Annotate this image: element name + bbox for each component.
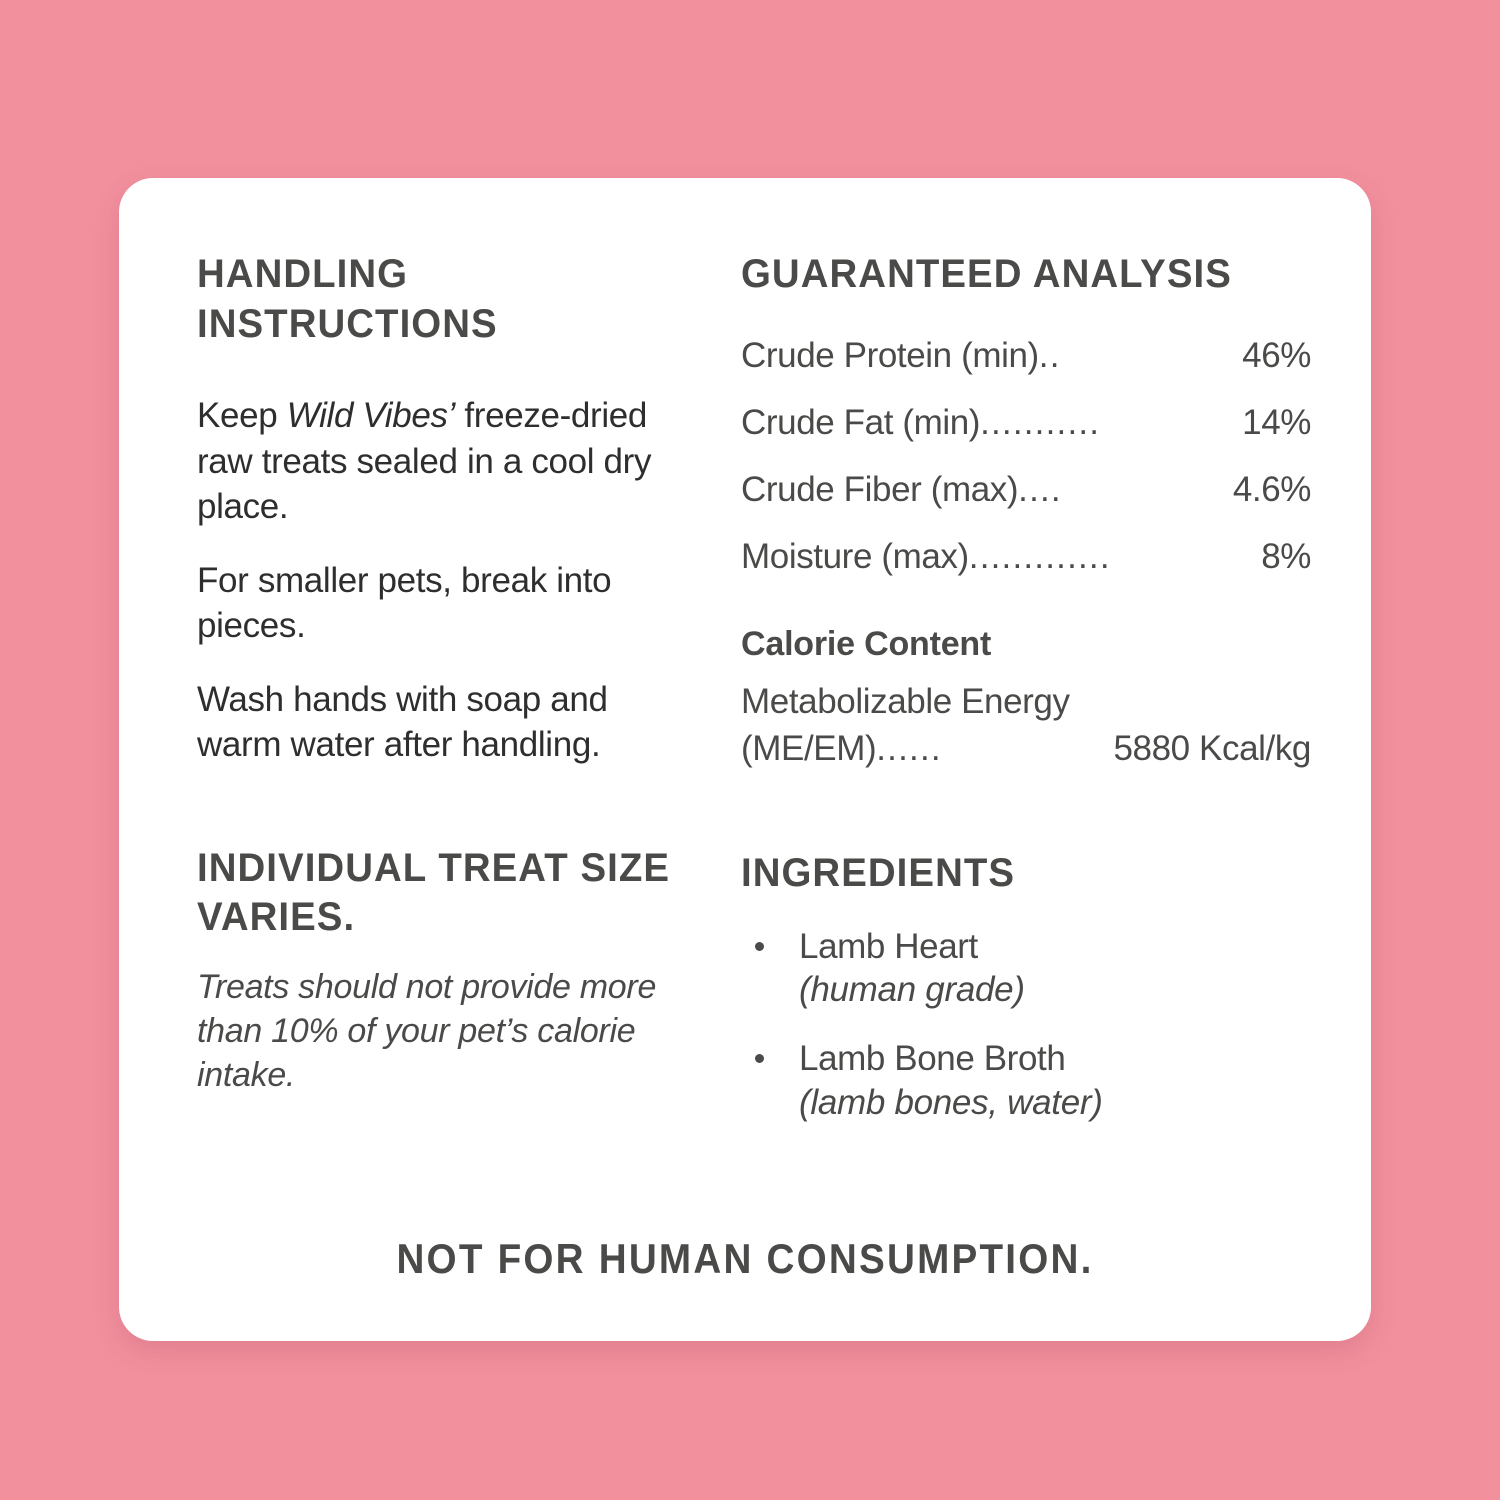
table-row: Crude Fat (min) ........... 14% [741, 389, 1311, 456]
nutrient-value: 46% [1237, 322, 1311, 389]
ingredient-name: Lamb Heart [799, 927, 978, 966]
not-for-human-consumption-warning: NOT FOR HUMAN CONSUMPTION. [169, 1235, 1321, 1283]
spacer [741, 773, 1311, 849]
spacer [197, 768, 697, 844]
metabolizable-energy-line: Metabolizable Energy [741, 679, 1311, 725]
spacer [197, 349, 697, 393]
label-canvas: HANDLING INSTRUCTIONS Keep Wild Vibes’ f… [0, 0, 1500, 1500]
ingredient-detail: (human grade) [799, 968, 1311, 1011]
product-label-card: HANDLING INSTRUCTIONS Keep Wild Vibes’ f… [119, 178, 1371, 1341]
spacer [741, 590, 1311, 624]
handling-paragraph-1: Keep Wild Vibes’ freeze-dried raw treats… [197, 393, 697, 530]
dot-leader: ............. [969, 523, 1254, 590]
right-column: GUARANTEED ANALYSIS Crude Protein (min) … [741, 250, 1311, 1124]
nutrient-label: Crude Protein (min) [741, 322, 1039, 389]
label-columns: HANDLING INSTRUCTIONS Keep Wild Vibes’ f… [119, 178, 1371, 1341]
treat-size-note: Treats should not provide more than 10% … [197, 965, 697, 1098]
calorie-content-heading: Calorie Content [741, 624, 1311, 665]
list-item: Lamb Heart (human grade) [741, 925, 1311, 1012]
spacer [741, 300, 1311, 322]
handling-instructions-heading: HANDLING INSTRUCTIONS [197, 250, 677, 349]
nutrient-value: 4.6% [1228, 456, 1311, 523]
ingredients-heading: INGREDIENTS [741, 849, 1288, 899]
left-column: HANDLING INSTRUCTIONS Keep Wild Vibes’ f… [197, 250, 697, 1097]
handling-paragraph-3: Wash hands with soap and warm water afte… [197, 677, 697, 768]
guaranteed-analysis-list: Crude Protein (min) .. 46% Crude Fat (mi… [741, 322, 1311, 591]
spacer [741, 665, 1311, 679]
dot-leader: .. [1039, 322, 1235, 389]
nutrient-value: 8% [1256, 523, 1311, 590]
dot-leader: ...... [876, 725, 1106, 773]
bullet-icon [755, 1054, 764, 1063]
me-value: 5880 Kcal/kg [1108, 725, 1311, 773]
metabolizable-energy-value-row: (ME/EM) ...... 5880 Kcal/kg [741, 725, 1311, 773]
nutrient-label: Crude Fat (min) [741, 389, 980, 456]
nutrient-label: Crude Fiber (max) [741, 456, 1018, 523]
list-item: Lamb Bone Broth (lamb bones, water) [741, 1037, 1311, 1124]
ingredient-detail: (lamb bones, water) [799, 1081, 1311, 1124]
brand-name-emphasis: Wild Vibes’ [287, 396, 455, 435]
spacer [197, 943, 697, 965]
table-row: Crude Fiber (max) .... 4.6% [741, 456, 1311, 523]
table-row: Moisture (max) ............. 8% [741, 523, 1311, 590]
bullet-icon [755, 942, 764, 951]
handling-paragraph-1-before: Keep [197, 396, 287, 435]
nutrient-value: 14% [1237, 389, 1311, 456]
guaranteed-analysis-heading: GUARANTEED ANALYSIS [741, 250, 1288, 300]
table-row: Crude Protein (min) .. 46% [741, 322, 1311, 389]
me-label: (ME/EM) [741, 725, 876, 773]
treat-size-heading: INDIVIDUAL TREAT SIZE VARIES. [197, 844, 677, 943]
handling-paragraph-2: For smaller pets, break into pieces. [197, 558, 697, 649]
ingredient-name: Lamb Bone Broth [799, 1039, 1065, 1078]
dot-leader: ........... [980, 389, 1235, 456]
nutrient-label: Moisture (max) [741, 523, 969, 590]
ingredients-list: Lamb Heart (human grade) Lamb Bone Broth… [741, 925, 1311, 1125]
dot-leader: .... [1018, 456, 1226, 523]
